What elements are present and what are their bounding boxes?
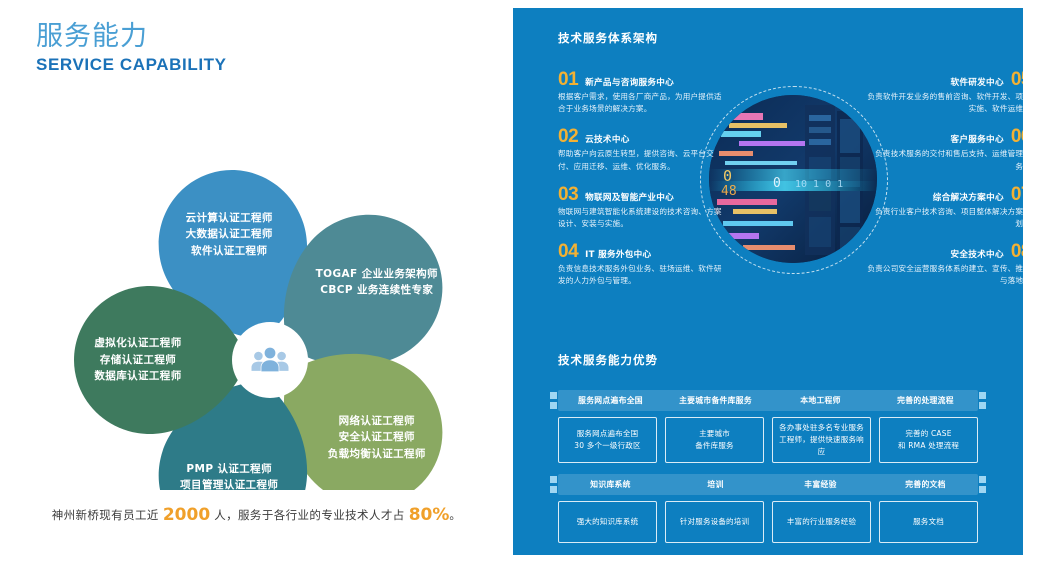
center-description: 帮助客户向云原生转型，提供咨询、云平台交付、应用迁移、运维、优化服务。: [558, 148, 726, 172]
petal-label-cloud-bigdata-software: 云计算认证工程师大数据认证工程师软件认证工程师: [149, 210, 309, 260]
center-item-07: 综合解决方案中心07负责行业客户技术咨询、项目整体解决方案规划。: [863, 185, 1023, 230]
advantage-header-cell: 完善的文档: [873, 474, 978, 495]
advantage-body-cell: 各办事处驻多名专业服务工程师，提供快速服务响应: [772, 417, 871, 463]
title-chinese: 服务能力: [36, 22, 227, 52]
petal-line: 负载均衡认证工程师: [297, 446, 457, 463]
advantage-table-1-body: 服务网点遍布全国30 多个一级行政区主要城市备件库服务各办事处驻多名专业服务工程…: [558, 417, 978, 463]
center-number: 07: [1011, 185, 1023, 204]
center-name: 综合解决方案中心: [933, 192, 1004, 204]
tick-mark: [979, 486, 986, 493]
tick-mark: [979, 392, 986, 399]
center-number: 01: [558, 70, 578, 89]
advantage-table-1: 服务网点遍布全国主要城市备件库服务本地工程师完善的处理流程 服务网点遍布全国30…: [558, 390, 978, 463]
center-item-04: 04IT 服务外包中心负责信息技术服务外包业务、驻场运维、软件研发的人力外包与管…: [558, 242, 726, 287]
tick-mark: [550, 476, 557, 483]
petal-line: TOGAF 企业业务架构师: [297, 266, 457, 283]
center-number: 06: [1011, 127, 1023, 146]
caption-employee-count: 2000: [163, 505, 210, 525]
advantage-header-cell: 主要城市备件库服务: [663, 390, 768, 411]
tick-mark: [979, 402, 986, 409]
tick-mark: [979, 476, 986, 483]
title-english: SERVICE CAPABILITY: [36, 54, 227, 76]
advantages-section-title: 技术服务能力优势: [558, 352, 658, 368]
advantage-table-2-header: 知识库系统培训丰富经验完善的文档: [558, 474, 978, 495]
advantage-table-1-header: 服务网点遍布全国主要城市备件库服务本地工程师完善的处理流程: [558, 390, 978, 411]
center-number: 04: [558, 242, 578, 261]
petal-label-virtual-storage-db: 虚拟化认证工程师存储认证工程师数据库认证工程师: [58, 335, 218, 385]
caption-part-1: 神州新桥现有员工近: [52, 508, 163, 522]
center-description: 负责信息技术服务外包业务、驻场运维、软件研发的人力外包与管理。: [558, 263, 726, 287]
petal-line: 大数据认证工程师: [149, 226, 309, 243]
petal-label-pmp-pm-itil: PMP 认证工程师项目管理认证工程师ITIL 认证工程师: [149, 461, 309, 511]
center-item-06: 客户服务中心06负责技术服务的交付和售后支持、运维管理服务。: [863, 127, 1023, 172]
flower-hub: [232, 322, 308, 398]
people-group-icon: [241, 331, 299, 389]
tick-mark: [550, 486, 557, 493]
petal-line: 云计算认证工程师: [149, 210, 309, 227]
center-item-08: 安全技术中心08负责公司安全运营服务体系的建立、宣传、推广与落地。: [863, 242, 1023, 287]
center-item-05: 软件研发中心05负责软件开发业务的售前咨询、软件开发、项目实施、软件运维。: [863, 70, 1023, 115]
caption-part-3: 。: [449, 508, 461, 522]
center-name: 客户服务中心: [950, 134, 1003, 146]
employee-caption: 神州新桥现有员工近 2000 人，服务于各行业的专业技术人才占 80%。: [0, 505, 513, 525]
center-description: 负责技术服务的交付和售后支持、运维管理服务。: [863, 148, 1023, 172]
center-description: 根据客户需求，使用各厂商产品，为用户提供适合于业务场景的解决方案。: [558, 91, 726, 115]
center-number: 02: [558, 127, 578, 146]
advantage-header-cell: 丰富经验: [768, 474, 873, 495]
data-center-photo: 0 48 0 10 1 0 1: [709, 95, 877, 263]
data-center-photo-svg: 0 48 0 10 1 0 1: [709, 95, 877, 263]
center-number: 05: [1011, 70, 1023, 89]
petal-label-network-security-lb: 网络认证工程师安全认证工程师负载均衡认证工程师: [297, 413, 457, 463]
caption-percent: 80%: [409, 505, 450, 525]
right-panel: 技术服务体系架构: [513, 8, 1023, 555]
advantage-header-cell: 服务网点遍布全国: [558, 390, 663, 411]
centers-column-right: 软件研发中心05负责软件开发业务的售前咨询、软件开发、项目实施、软件运维。客户服…: [863, 70, 1023, 300]
advantage-body-cell: 针对服务设备的培训: [665, 501, 764, 543]
petal-line: 网络认证工程师: [297, 413, 457, 430]
center-name: 安全技术中心: [950, 249, 1003, 261]
petal-line: PMP 认证工程师: [149, 461, 309, 478]
petal-line: 数据库认证工程师: [58, 368, 218, 385]
advantage-header-cell: 培训: [663, 474, 768, 495]
center-description: 物联网与建筑智能化系统建设的技术咨询、方案设计、安装与实施。: [558, 206, 726, 230]
architecture-section-title: 技术服务体系架构: [558, 30, 658, 46]
capability-flower-diagram: 云计算认证工程师大数据认证工程师软件认证工程师TOGAF 企业业务架构师CBCP…: [20, 90, 480, 490]
center-description: 负责公司安全运营服务体系的建立、宣传、推广与落地。: [863, 263, 1023, 287]
center-description: 负责软件开发业务的售前咨询、软件开发、项目实施、软件运维。: [863, 91, 1023, 115]
center-name: 软件研发中心: [950, 77, 1003, 89]
tick-mark: [550, 392, 557, 399]
petal-line: CBCP 业务连续性专家: [297, 282, 457, 299]
advantage-header-cell: 完善的处理流程: [873, 390, 978, 411]
svg-text:10 1 0 1: 10 1 0 1: [795, 179, 843, 190]
center-item-01: 01新产品与咨询服务中心根据客户需求，使用各厂商产品，为用户提供适合于业务场景的…: [558, 70, 726, 115]
advantage-body-cell: 完善的 CASE和 RMA 处理流程: [879, 417, 978, 463]
petal-line: 软件认证工程师: [149, 243, 309, 260]
page-title: 服务能力 SERVICE CAPABILITY: [36, 22, 227, 76]
center-number: 08: [1011, 242, 1023, 261]
advantage-body-cell: 主要城市备件库服务: [665, 417, 764, 463]
center-name: 物联网及智能产业中心: [585, 192, 674, 204]
center-name: 云技术中心: [585, 134, 629, 146]
petal-line: 虚拟化认证工程师: [58, 335, 218, 352]
slide-root: 服务能力 SERVICE CAPABILITY 云计算认证工程师大数据认证工程师…: [0, 0, 1041, 576]
center-number: 03: [558, 185, 578, 204]
center-item-03: 03物联网及智能产业中心物联网与建筑智能化系统建设的技术咨询、方案设计、安装与实…: [558, 185, 726, 230]
centers-column-left: 01新产品与咨询服务中心根据客户需求，使用各厂商产品，为用户提供适合于业务场景的…: [558, 70, 726, 300]
advantage-body-cell: 丰富的行业服务经验: [772, 501, 871, 543]
svg-text:0: 0: [773, 176, 781, 191]
advantage-table-2-body: 强大的知识库系统针对服务设备的培训丰富的行业服务经验服务文档: [558, 501, 978, 543]
advantage-table-2: 知识库系统培训丰富经验完善的文档 强大的知识库系统针对服务设备的培训丰富的行业服…: [558, 474, 978, 543]
advantage-body-cell: 服务文档: [879, 501, 978, 543]
advantage-body-cell: 强大的知识库系统: [558, 501, 657, 543]
petal-line: 存储认证工程师: [58, 352, 218, 369]
photo-dashed-ring: 0 48 0 10 1 0 1: [700, 86, 888, 274]
center-name: 新产品与咨询服务中心: [585, 77, 674, 89]
advantage-body-cell: 服务网点遍布全国30 多个一级行政区: [558, 417, 657, 463]
caption-part-2: 人，服务于各行业的专业技术人才占: [210, 508, 409, 522]
people-group-icon-svg: [250, 345, 290, 375]
center-item-02: 02云技术中心帮助客户向云原生转型，提供咨询、云平台交付、应用迁移、运维、优化服…: [558, 127, 726, 172]
tick-mark: [550, 402, 557, 409]
petal-line: 项目管理认证工程师: [149, 477, 309, 494]
center-description: 负责行业客户技术咨询、项目整体解决方案规划。: [863, 206, 1023, 230]
advantage-header-cell: 知识库系统: [558, 474, 663, 495]
center-name: IT 服务外包中心: [585, 249, 651, 261]
petal-label-togaf-cbcp: TOGAF 企业业务架构师CBCP 业务连续性专家: [297, 266, 457, 299]
petal-line: 安全认证工程师: [297, 429, 457, 446]
left-panel: 服务能力 SERVICE CAPABILITY 云计算认证工程师大数据认证工程师…: [0, 0, 513, 576]
advantage-header-cell: 本地工程师: [768, 390, 873, 411]
